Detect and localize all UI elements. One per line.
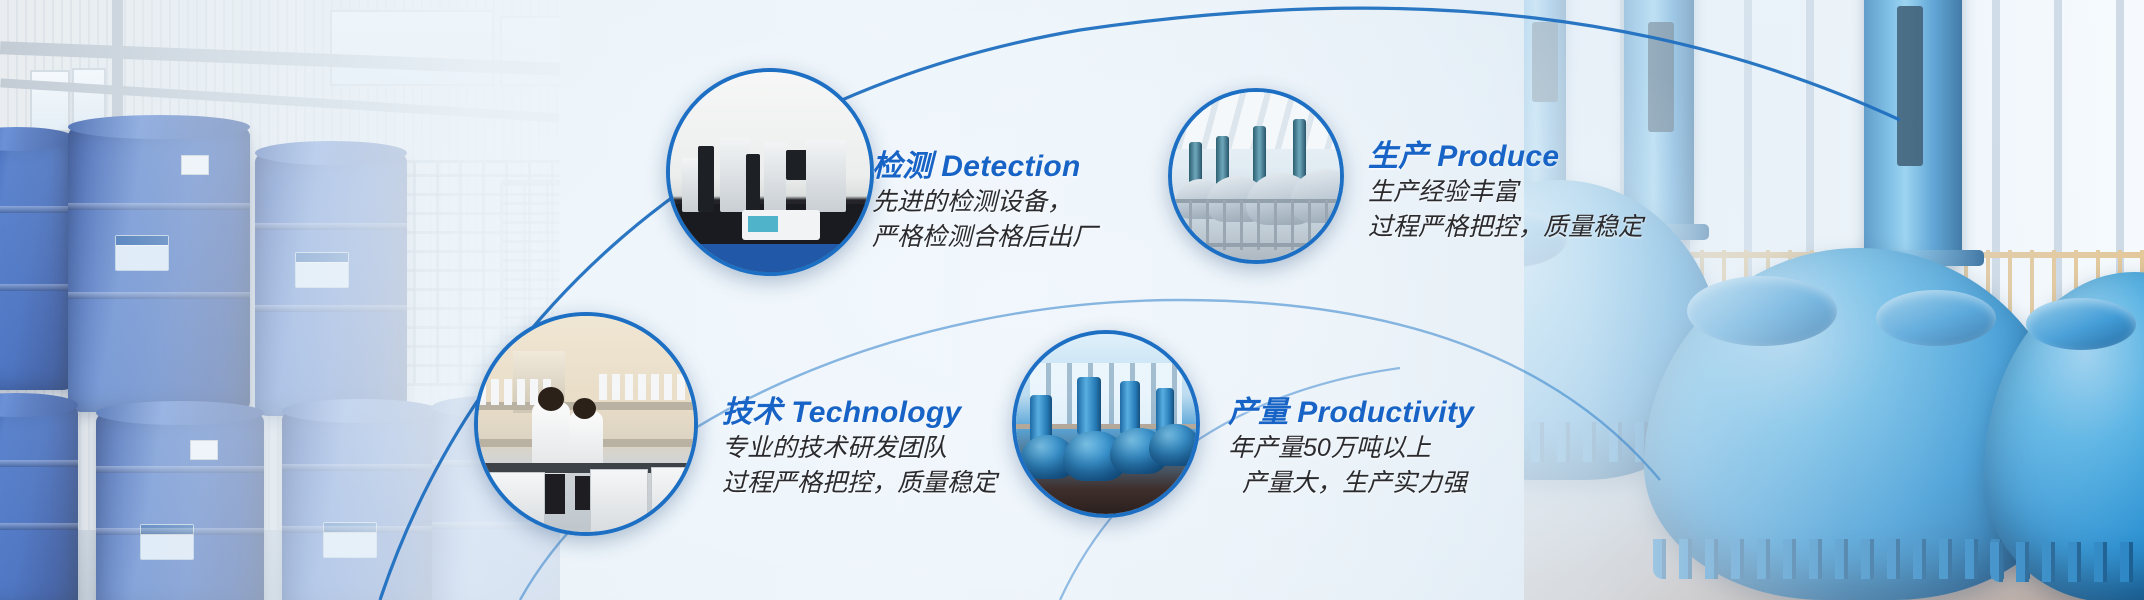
chemical-drum bbox=[68, 126, 250, 412]
heading-cn: 产量 bbox=[1228, 396, 1289, 429]
drum-lid bbox=[68, 115, 250, 139]
agitator-motor bbox=[1293, 119, 1306, 183]
feature-line: 生产经验丰富 bbox=[1368, 175, 1643, 211]
heading-cn: 检测 bbox=[872, 150, 933, 183]
rd-laboratory-photo bbox=[478, 316, 694, 532]
reactor-bolt-ring bbox=[1990, 542, 2144, 582]
agitator-column bbox=[1864, 0, 1962, 266]
chemical-drum bbox=[0, 404, 78, 600]
feature-node-productivity[interactable] bbox=[1012, 330, 1200, 518]
lab-instrument bbox=[698, 146, 714, 212]
feature-text-detection: 检测 Detection 先进的检测设备， 严格检测合格后出厂 bbox=[872, 150, 1097, 256]
chemical-drum bbox=[96, 412, 264, 600]
feature-line: 先进的检测设备， bbox=[872, 185, 1097, 221]
drum-product-label bbox=[115, 235, 169, 271]
feature-node-produce[interactable] bbox=[1168, 88, 1344, 264]
feature-heading-produce: 生产 Produce bbox=[1368, 140, 1643, 175]
drum-lid bbox=[96, 401, 264, 425]
blue-reactors-row-photo bbox=[1016, 334, 1196, 514]
heading-en: Productivity bbox=[1297, 396, 1474, 429]
agitator-motor bbox=[1189, 142, 1202, 184]
heading-en: Detection bbox=[941, 150, 1080, 183]
heading-en: Technology bbox=[791, 396, 961, 429]
agitator-motor bbox=[1253, 126, 1266, 184]
reactor-vessels-photo bbox=[1524, 0, 2144, 600]
heading-en: Produce bbox=[1437, 140, 1559, 173]
lab-instrument bbox=[806, 140, 846, 212]
reactor-hatch bbox=[2026, 298, 2136, 350]
chemical-drum bbox=[0, 138, 76, 390]
drum-product-label bbox=[295, 252, 349, 288]
reactor-column bbox=[1120, 381, 1140, 435]
warehouse-blue-drums-photo bbox=[0, 0, 560, 600]
column-slot bbox=[1532, 22, 1558, 102]
fence-bar bbox=[1172, 243, 1340, 247]
drum-hazard-tag bbox=[190, 440, 218, 460]
digital-scale bbox=[742, 210, 820, 240]
technician-legs bbox=[543, 474, 565, 514]
reactor-hatch bbox=[1687, 276, 1837, 346]
column-slot bbox=[1897, 6, 1923, 166]
feature-line: 产量大，生产实力强 bbox=[1228, 466, 1474, 502]
feature-line: 过程严格把控，质量稳定 bbox=[1368, 210, 1643, 246]
lab-cabinet bbox=[478, 472, 545, 530]
feature-line: 专业的技术研发团队 bbox=[722, 431, 997, 467]
drum-hazard-tag bbox=[181, 155, 209, 175]
production-workshop-photo bbox=[1172, 92, 1340, 260]
feature-line: 严格检测合格后出厂 bbox=[872, 220, 1097, 256]
drum-lid bbox=[282, 399, 440, 423]
drum-product-label bbox=[323, 522, 377, 558]
reactor-column bbox=[1077, 377, 1101, 435]
technician-head bbox=[573, 398, 596, 419]
feature-text-technology: 技术 Technology 专业的技术研发团队 过程严格把控，质量稳定 bbox=[722, 396, 997, 502]
feature-node-technology[interactable] bbox=[474, 312, 698, 536]
heading-cn: 技术 bbox=[722, 396, 783, 429]
capability-banner: 检测 Detection 先进的检测设备， 严格检测合格后出厂 生产 Produ… bbox=[0, 0, 2144, 600]
blue-reactor bbox=[1149, 424, 1200, 466]
drum-lid bbox=[255, 141, 407, 165]
feature-text-productivity: 产量 Productivity 年产量50万吨以上 产量大，生产实力强 bbox=[1228, 396, 1474, 502]
lab-cabinet bbox=[651, 467, 698, 532]
feature-text-produce: 生产 Produce 生产经验丰富 过程严格把控，质量稳定 bbox=[1368, 140, 1643, 246]
column-slot bbox=[1648, 22, 1674, 132]
bench-skirt bbox=[670, 244, 870, 272]
chemical-drum bbox=[255, 152, 407, 416]
feature-heading-productivity: 产量 Productivity bbox=[1228, 396, 1474, 431]
warehouse-window bbox=[30, 70, 70, 132]
feature-heading-detection: 检测 Detection bbox=[872, 150, 1097, 185]
feature-heading-technology: 技术 Technology bbox=[722, 396, 997, 431]
lab-cabinet bbox=[590, 469, 648, 531]
feature-line: 过程严格把控，质量稳定 bbox=[722, 466, 997, 502]
drum-product-label bbox=[140, 524, 194, 560]
lab-instrument bbox=[764, 142, 786, 212]
warehouse-window bbox=[330, 10, 494, 86]
heading-cn: 生产 bbox=[1368, 140, 1429, 173]
lab-instrument bbox=[746, 154, 760, 212]
feature-node-detection[interactable] bbox=[666, 68, 874, 276]
reagent-bottles bbox=[599, 374, 694, 400]
feature-line: 年产量50万吨以上 bbox=[1228, 431, 1474, 467]
chemical-drum bbox=[282, 410, 440, 600]
reactor-hatch bbox=[1876, 290, 1996, 346]
warehouse-window bbox=[500, 16, 560, 86]
lab-testing-instruments-photo bbox=[670, 72, 870, 272]
